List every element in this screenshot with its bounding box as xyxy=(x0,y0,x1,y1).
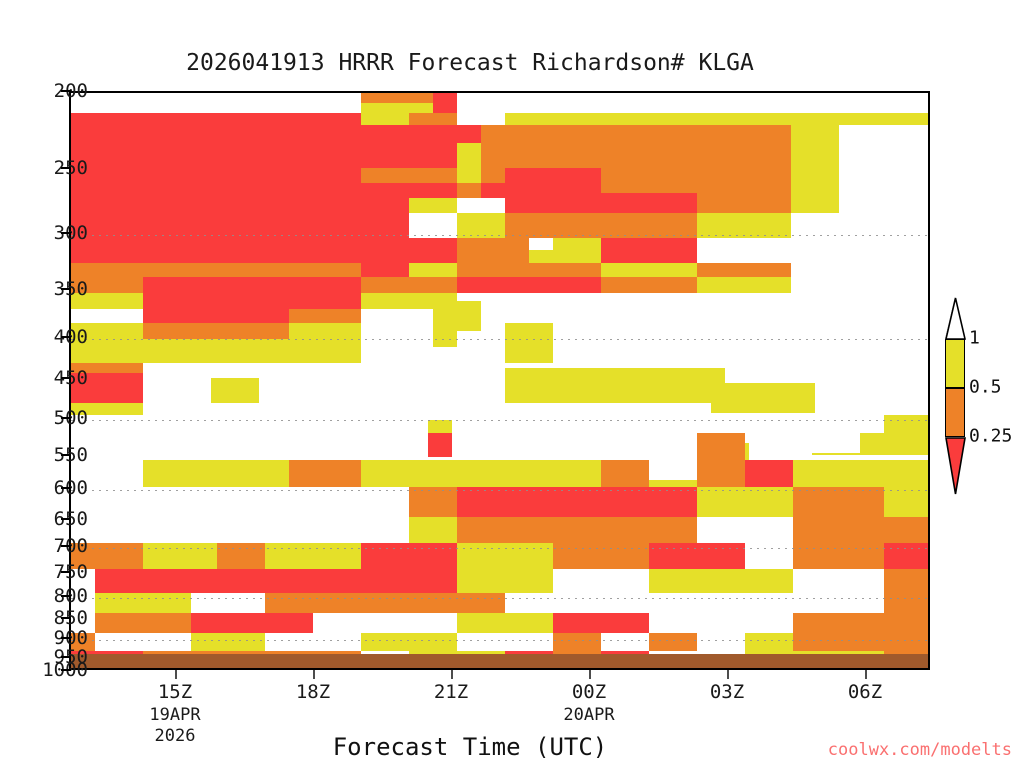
heatmap-cell xyxy=(143,543,191,569)
heatmap-cell xyxy=(385,93,433,103)
heatmap-cell xyxy=(361,569,409,593)
heatmap-cell xyxy=(217,543,265,569)
y-tick-mark xyxy=(61,637,71,639)
heatmap-cell xyxy=(884,517,930,543)
colorbar-tick-label: 0.25 xyxy=(969,425,1012,446)
heatmap-cell xyxy=(791,383,815,413)
heatmap-cell xyxy=(505,543,553,569)
heatmap-cell xyxy=(409,168,457,183)
heatmap-cell xyxy=(601,168,791,193)
x-tick-mark xyxy=(175,670,177,679)
heatmap-cell xyxy=(505,213,553,238)
heatmap-cell xyxy=(745,543,793,569)
heatmap-cell xyxy=(793,543,884,569)
heatmap-cell xyxy=(289,460,361,487)
heatmap-cell xyxy=(428,433,452,457)
heatmap-cell xyxy=(433,103,457,113)
heatmap-cell xyxy=(361,198,409,213)
y-tick-mark xyxy=(61,288,71,290)
heatmap-cell xyxy=(601,517,697,543)
y-tick-mark xyxy=(61,656,71,658)
heatmap-cell xyxy=(697,543,745,569)
heatmap-cell xyxy=(409,593,457,613)
heatmap-cell xyxy=(361,238,457,263)
heatmap-cell xyxy=(409,517,457,543)
heatmap-cell xyxy=(697,193,791,213)
heatmap-cell xyxy=(884,613,930,633)
heatmap-cell xyxy=(884,633,930,651)
heatmap-cell xyxy=(361,143,457,168)
heatmap-cell xyxy=(793,487,841,517)
heatmap-cell xyxy=(601,593,649,613)
heatmap-cell xyxy=(457,238,505,263)
heatmap-cell xyxy=(191,633,217,651)
heatmap-cell xyxy=(697,487,745,517)
heatmap-cell xyxy=(505,569,553,593)
heatmap-cell xyxy=(649,543,697,569)
heatmap-cell xyxy=(791,143,839,168)
heatmap-cell xyxy=(553,633,601,651)
heatmap-cell xyxy=(601,460,649,487)
heatmap-cell xyxy=(457,543,505,569)
heatmap-cell xyxy=(361,125,457,143)
y-tick-mark xyxy=(61,454,71,456)
chart-canvas: 2026041913 HRRR Forecast Richardson# KLG… xyxy=(0,0,1024,768)
heatmap-cells xyxy=(71,93,928,668)
heatmap-cell xyxy=(143,339,361,363)
heatmap-cell xyxy=(289,569,361,593)
heatmap-cell xyxy=(361,263,409,277)
heatmap-cell xyxy=(143,323,289,339)
heatmap-cell xyxy=(433,331,457,347)
heatmap-cell xyxy=(553,323,601,333)
heatmap-cell xyxy=(143,277,361,293)
heatmap-cell xyxy=(553,238,601,263)
heatmap-cell xyxy=(791,263,930,277)
heatmap-cell xyxy=(71,178,361,213)
heatmap-cell xyxy=(217,593,265,613)
heatmap-cell xyxy=(505,277,601,293)
heatmap-cell xyxy=(505,168,601,193)
heatmap-cell xyxy=(457,263,505,277)
heatmap-cell xyxy=(793,460,930,487)
heatmap-cell xyxy=(601,113,791,125)
heatmap-cell xyxy=(191,543,217,569)
colorbar-under-arrow xyxy=(945,437,966,495)
heatmap-cell xyxy=(793,517,884,543)
heatmap-cell xyxy=(433,301,481,331)
heatmap-cell xyxy=(409,613,457,633)
heatmap-cell xyxy=(428,420,452,433)
heatmap-cell xyxy=(265,593,313,613)
x-tick-label: 06Z xyxy=(848,681,882,703)
x-tick-label: 21Z xyxy=(434,681,468,703)
heatmap-cell xyxy=(601,368,697,403)
heatmap-cell xyxy=(481,168,505,183)
heatmap-cell xyxy=(601,263,697,277)
heatmap-cell xyxy=(289,309,361,323)
heatmap-cell xyxy=(361,103,433,113)
y-tick-mark xyxy=(61,571,71,573)
heatmap-cell xyxy=(505,125,601,143)
y-tick-mark xyxy=(61,167,71,169)
heatmap-cell xyxy=(457,517,505,543)
y-tick-mark xyxy=(61,545,71,547)
heatmap-cell xyxy=(457,113,505,125)
heatmap-cell xyxy=(745,517,793,543)
heatmap-cell xyxy=(791,168,839,193)
heatmap-cell xyxy=(457,198,505,213)
heatmap-cell xyxy=(457,277,505,293)
heatmap-cell xyxy=(553,543,601,569)
heatmap-cell xyxy=(601,293,791,309)
heatmap-cell xyxy=(265,633,313,651)
heatmap-cell xyxy=(361,543,409,569)
heatmap-cell xyxy=(649,569,697,593)
heatmap-cell xyxy=(697,633,745,651)
y-tick-mark xyxy=(61,417,71,419)
heatmap-cell xyxy=(649,487,697,517)
heatmap-cell xyxy=(793,593,884,613)
heatmap-cell xyxy=(791,277,930,293)
heatmap-cell xyxy=(649,613,697,633)
heatmap-cell xyxy=(529,250,553,263)
x-tick-label: 00Z xyxy=(572,681,606,703)
heatmap-cell xyxy=(505,613,553,633)
heatmap-cell xyxy=(553,569,601,593)
heatmap-plot-area[interactable] xyxy=(69,91,930,670)
heatmap-cell xyxy=(313,633,361,651)
heatmap-cell xyxy=(839,143,930,168)
heatmap-cell xyxy=(553,517,601,543)
heatmap-cell xyxy=(529,238,553,250)
heatmap-cell xyxy=(553,213,601,238)
heatmap-cell xyxy=(601,143,791,168)
heatmap-cell xyxy=(143,293,361,309)
heatmap-cell xyxy=(505,238,529,263)
colorbar-segment[interactable] xyxy=(945,388,965,437)
heatmap-cell xyxy=(409,569,457,593)
heatmap-cell xyxy=(211,378,259,403)
heatmap-cell xyxy=(793,633,884,651)
heatmap-cell xyxy=(745,593,793,613)
heatmap-cell xyxy=(217,633,265,651)
y-tick-mark xyxy=(61,90,71,92)
heatmap-cell xyxy=(409,213,457,238)
heatmap-cell xyxy=(697,517,745,543)
heatmap-cell xyxy=(361,460,457,487)
heatmap-cell xyxy=(265,613,313,633)
heatmap-cell xyxy=(143,460,289,487)
heatmap-cell xyxy=(143,569,289,593)
heatmap-cell xyxy=(791,213,930,238)
heatmap-cell xyxy=(361,168,409,183)
heatmap-cell xyxy=(791,125,839,143)
heatmap-cell xyxy=(361,183,457,198)
watermark: coolwx.com/modelts xyxy=(828,740,1012,760)
colorbar-segment[interactable] xyxy=(945,339,965,388)
heatmap-cell xyxy=(191,613,217,633)
heatmap-cell xyxy=(457,183,481,198)
colorbar-tick-label: 1 xyxy=(969,327,980,348)
heatmap-cell xyxy=(361,93,385,103)
heatmap-cell xyxy=(697,213,791,238)
heatmap-cell xyxy=(457,213,505,238)
heatmap-cell xyxy=(71,263,361,277)
heatmap-cell xyxy=(71,487,409,517)
x-tick-mark xyxy=(451,670,453,679)
heatmap-cell xyxy=(791,193,839,213)
heatmap-cell xyxy=(884,543,930,569)
heatmap-cell xyxy=(457,487,553,517)
heatmap-cell xyxy=(649,480,697,487)
heatmap-cell xyxy=(409,543,457,569)
heatmap-cell xyxy=(289,323,361,339)
heatmap-cell xyxy=(884,569,930,583)
heatmap-cell xyxy=(361,613,409,633)
heatmap-cell xyxy=(505,368,601,403)
heatmap-cell xyxy=(884,583,930,613)
heatmap-cell xyxy=(601,569,649,593)
heatmap-cell xyxy=(143,593,191,613)
heatmap-cell xyxy=(839,125,930,143)
heatmap-cell xyxy=(791,238,930,263)
heatmap-cell xyxy=(457,633,505,651)
chart-title: 2026041913 HRRR Forecast Richardson# KLG… xyxy=(0,50,940,76)
x-tick-label: 18Z xyxy=(296,681,330,703)
heatmap-cell xyxy=(71,93,361,103)
heatmap-cell xyxy=(481,183,505,198)
x-tick-label: 03Z xyxy=(710,681,744,703)
colorbar-over-arrow-outline xyxy=(945,297,966,340)
heatmap-cell xyxy=(95,613,143,633)
x-tick-mark xyxy=(313,670,315,679)
y-tick-mark xyxy=(61,518,71,520)
heatmap-cell xyxy=(793,613,884,633)
heatmap-cell xyxy=(553,263,601,277)
heatmap-cell xyxy=(505,517,553,543)
colorbar-tick-label: 0.5 xyxy=(969,376,1002,397)
heatmap-cell xyxy=(697,613,745,633)
heatmap-cell xyxy=(71,309,143,323)
heatmap-cell xyxy=(791,113,930,125)
heatmap-cell xyxy=(143,309,289,323)
heatmap-cell xyxy=(71,517,409,543)
heatmap-cell xyxy=(649,460,697,480)
heatmap-cell xyxy=(553,460,577,487)
heatmap-cell xyxy=(143,613,191,633)
heatmap-cell xyxy=(697,447,745,487)
heatmap-cell xyxy=(649,633,697,651)
x-tick-date-line: 20APR xyxy=(563,705,614,726)
heatmap-cell xyxy=(745,460,793,487)
heatmap-cell xyxy=(361,277,457,293)
heatmap-cell xyxy=(505,633,553,651)
x-tick-label: 15Z xyxy=(158,681,192,703)
heatmap-cell xyxy=(457,569,505,593)
x-tick-date-line: 19APR xyxy=(149,705,200,726)
heatmap-cell xyxy=(217,613,265,633)
heatmap-cell xyxy=(481,125,505,143)
heatmap-cell xyxy=(601,613,649,633)
y-tick-mark xyxy=(61,617,71,619)
x-axis-title: Forecast Time (UTC) xyxy=(0,733,940,761)
heatmap-cell xyxy=(143,633,191,651)
heatmap-cell xyxy=(409,198,457,213)
heatmap-cell xyxy=(457,460,505,487)
terrain-band xyxy=(71,654,928,668)
heatmap-cell xyxy=(884,487,930,517)
heatmap-cell xyxy=(457,125,481,143)
heatmap-cell xyxy=(481,143,601,168)
heatmap-cell xyxy=(745,569,793,593)
heatmap-cell xyxy=(457,168,481,183)
heatmap-cell xyxy=(649,593,697,613)
heatmap-cell xyxy=(553,593,601,613)
heatmap-cell xyxy=(409,113,457,125)
heatmap-cell xyxy=(505,460,553,487)
heatmap-cell xyxy=(601,277,697,293)
heatmap-cell xyxy=(601,238,697,263)
heatmap-cell xyxy=(745,613,793,633)
heatmap-cell xyxy=(505,193,601,213)
x-tick-mark xyxy=(727,670,729,679)
heatmap-cell xyxy=(265,543,313,569)
x-tick-mark xyxy=(865,670,867,679)
heatmap-cell xyxy=(601,125,791,143)
heatmap-cell xyxy=(409,487,457,517)
heatmap-cell xyxy=(601,543,649,569)
heatmap-cell xyxy=(409,263,457,277)
heatmap-cell xyxy=(601,193,697,213)
heatmap-cell xyxy=(505,323,553,363)
heatmap-cell xyxy=(433,93,457,103)
heatmap-cell xyxy=(841,487,884,517)
heatmap-cell xyxy=(553,613,601,633)
heatmap-cell xyxy=(457,143,481,168)
heatmap-cell xyxy=(697,238,791,263)
heatmap-cell xyxy=(313,543,361,569)
heatmap-cell xyxy=(457,593,505,613)
heatmap-cell xyxy=(505,113,601,125)
heatmap-cell xyxy=(505,263,553,277)
heatmap-cell xyxy=(71,213,361,238)
heatmap-cell xyxy=(697,433,745,447)
y-tick-mark xyxy=(61,377,71,379)
heatmap-cell xyxy=(697,277,791,293)
heatmap-cell xyxy=(361,213,409,238)
heatmap-cell xyxy=(313,593,361,613)
heatmap-cell xyxy=(505,593,553,613)
heatmap-cell xyxy=(361,633,409,651)
y-tick-mark xyxy=(61,595,71,597)
heatmap-cell xyxy=(71,113,361,178)
heatmap-cell xyxy=(95,593,143,613)
heatmap-cell xyxy=(711,383,791,413)
heatmap-cell xyxy=(839,193,930,213)
heatmap-cell xyxy=(313,613,361,633)
heatmap-cell xyxy=(95,633,143,651)
heatmap-cell xyxy=(745,633,793,651)
heatmap-cell xyxy=(71,238,361,263)
heatmap-cell xyxy=(601,633,649,651)
heatmap-cell xyxy=(409,633,457,651)
heatmap-cell xyxy=(553,487,601,517)
x-tick-mark xyxy=(589,670,591,679)
heatmap-cell xyxy=(361,113,409,125)
x-tick-date-label: 20APR xyxy=(563,705,614,726)
heatmap-cell xyxy=(457,93,930,103)
heatmap-cell xyxy=(697,569,745,593)
y-tick-mark xyxy=(61,669,71,671)
heatmap-cell xyxy=(745,487,793,517)
heatmap-cell xyxy=(457,613,505,633)
heatmap-cell xyxy=(191,593,217,613)
heatmap-cell xyxy=(95,569,143,593)
heatmap-cell xyxy=(697,593,745,613)
heatmap-cell xyxy=(95,543,143,569)
y-tick-mark xyxy=(61,487,71,489)
heatmap-cell xyxy=(601,213,697,238)
heatmap-cell xyxy=(361,593,409,613)
y-tick-mark xyxy=(61,336,71,338)
heatmap-cell xyxy=(697,263,791,277)
heatmap-cell xyxy=(577,460,601,487)
heatmap-cell xyxy=(601,487,649,517)
y-tick-mark xyxy=(61,232,71,234)
